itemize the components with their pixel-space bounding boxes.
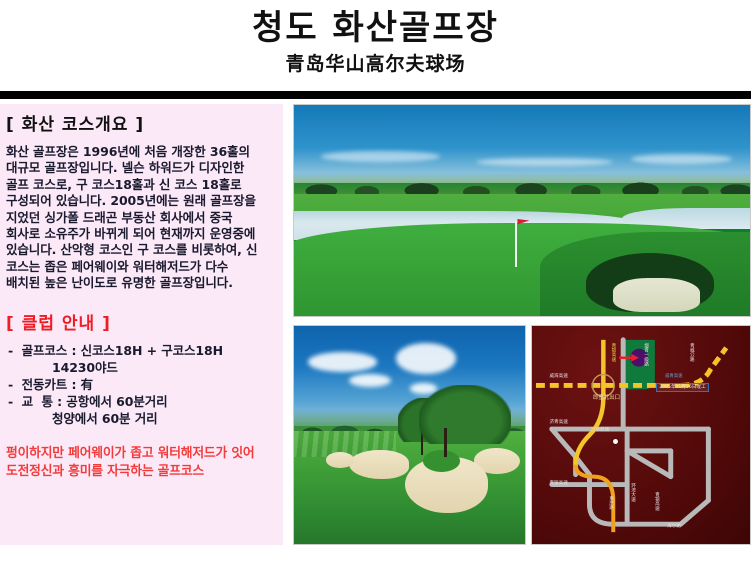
page-title-korean: 청도 화산골프장 bbox=[0, 0, 751, 50]
map-label: 环湾大道 bbox=[630, 483, 635, 501]
map-label: 青银高速 bbox=[654, 492, 659, 510]
cloud-shape bbox=[396, 343, 456, 374]
yellow-road-vertical bbox=[576, 340, 604, 465]
list-item: - 골프코스 : 신코스18H + 구코스18H bbox=[8, 342, 280, 359]
list-item: 14230야드 bbox=[8, 359, 280, 376]
page-title-chinese: 青岛华山高尔夫球场 bbox=[0, 50, 751, 77]
course-slogan-text: 펑이하지만 페어웨이가 좁고 워터해저드가 잇어 도전정신과 흥미를 자극하는 … bbox=[6, 445, 282, 480]
map-label: 海尔路 bbox=[667, 524, 681, 529]
map-label: 青银高速 bbox=[549, 481, 567, 486]
list-item: - 교 통 : 공항에서 60분거리 bbox=[8, 393, 280, 410]
golf-course-photo-bottom-left bbox=[293, 325, 526, 545]
list-item: 청양에서 60분 거리 bbox=[8, 410, 280, 427]
map-label-exit: 即墨北出口 bbox=[593, 396, 620, 401]
map-label: 重庆路 bbox=[608, 496, 613, 510]
map-label: 青威公路 bbox=[689, 343, 694, 361]
golf-course-photo-top bbox=[293, 104, 751, 317]
map-roads-svg bbox=[532, 326, 750, 544]
club-info-list: - 골프코스 : 신코스18H + 구코스18H 14230야드 - 전동카트 … bbox=[8, 342, 280, 427]
poster-page: 청도 화산골프장 青岛华山高尔夫球场 [ 화산 코스개요 ] 화산 골프장은 1… bbox=[0, 0, 751, 564]
flag-pole bbox=[515, 221, 517, 267]
course-overview-text: 화산 골프장은 1996년에 처음 개장한 36홀의 대규모 골프장입니다. 넬… bbox=[6, 144, 278, 292]
page-header: 청도 화산골프장 青岛华山高尔夫球场 bbox=[0, 0, 751, 91]
map-completion-note: 2005年11月26日竣工 bbox=[656, 383, 708, 392]
list-item: - 전동카트 : 有 bbox=[8, 376, 280, 393]
cloud-shape bbox=[349, 374, 391, 387]
sand-bunker bbox=[613, 278, 700, 312]
map-note-title: 威青高速 bbox=[665, 373, 683, 379]
cloud-shape bbox=[631, 154, 731, 165]
access-map: 威青高速 2005年11月26日竣工 青银高速 烟青一级路 青威公路 威海高速 … bbox=[531, 325, 751, 545]
tree-shape bbox=[419, 385, 511, 444]
tree-trunk bbox=[444, 428, 447, 456]
map-label: 青银高速 bbox=[610, 343, 615, 361]
sky-region bbox=[294, 105, 750, 183]
club-info-heading: [ 클럽 안내 ] bbox=[6, 309, 111, 334]
sand-bunker bbox=[349, 450, 409, 478]
cloud-shape bbox=[308, 352, 377, 372]
map-label: 济青高速 bbox=[549, 420, 567, 425]
sand-bunker bbox=[326, 452, 354, 467]
cloud-shape bbox=[321, 151, 440, 162]
map-label: 烟青一级路 bbox=[643, 343, 648, 366]
info-panel: [ 화산 코스개요 ] 화산 골프장은 1996년에 처음 개장한 36홀의 대… bbox=[0, 104, 283, 545]
map-label: 威海高速 bbox=[549, 374, 567, 379]
map-label: 流亭机场 bbox=[591, 428, 609, 433]
course-overview-heading: [ 화산 코스개요 ] bbox=[6, 110, 144, 135]
header-divider bbox=[0, 91, 751, 99]
